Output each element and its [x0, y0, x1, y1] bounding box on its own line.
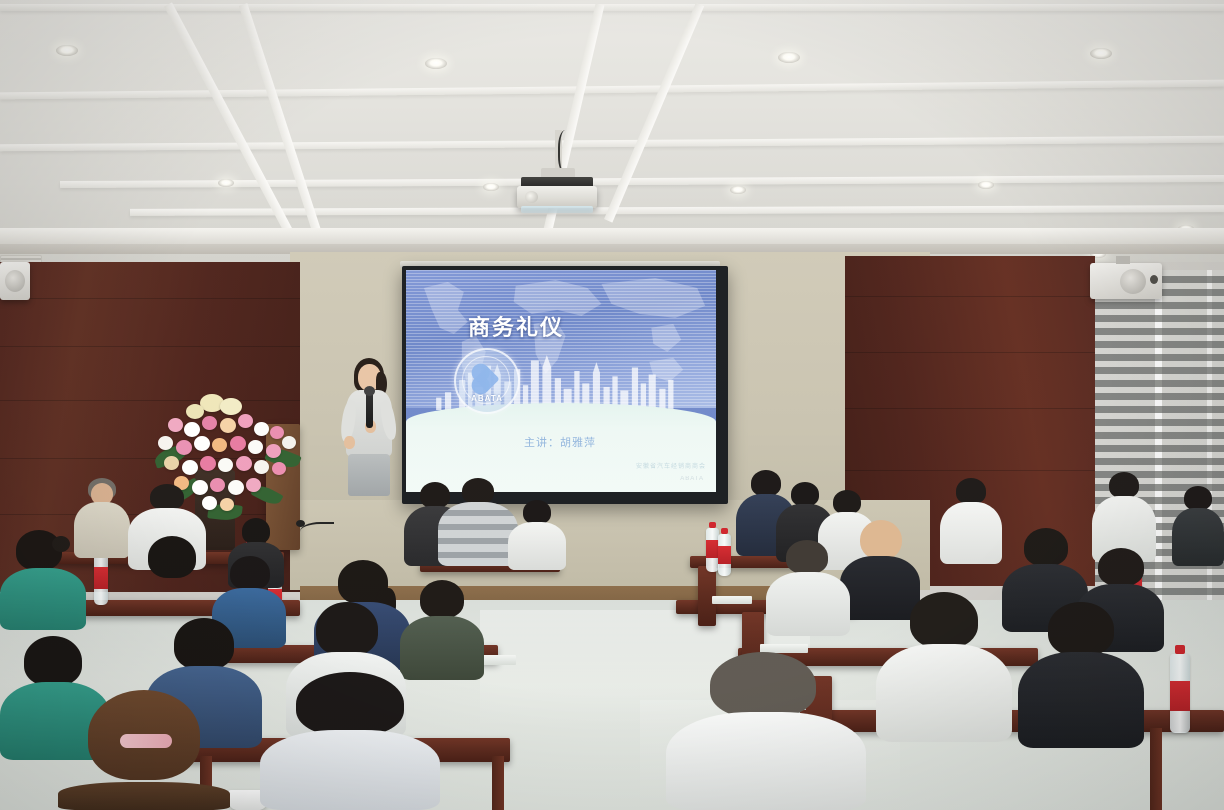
ceiling-cornice: [0, 228, 1224, 244]
audience-member: [0, 530, 86, 630]
ceiling-beam: [0, 136, 1224, 152]
audience-member: [58, 690, 230, 810]
speaker-cone: [1120, 269, 1146, 294]
logo-text: ABATA: [456, 394, 518, 403]
person-hair: [833, 490, 861, 514]
presenter-prefix: 主讲：: [524, 437, 560, 449]
audience-member: [940, 478, 1002, 564]
person-torso: [0, 568, 86, 630]
person-torso: [1172, 508, 1224, 566]
person-hair: [1109, 472, 1139, 498]
recessed-downlight: [425, 58, 447, 69]
person-hair: [174, 618, 234, 670]
speaker-bracket: [1116, 256, 1130, 264]
person-hair: [710, 652, 816, 718]
bottle-label: [94, 567, 108, 589]
conference-room-photo: 商务礼仪: [0, 0, 1224, 810]
audience-member: [400, 580, 484, 680]
presenter-skirt: [348, 454, 390, 496]
abata-logo-icon: ABATA: [454, 348, 520, 414]
person-hair: [148, 536, 196, 578]
desk-paper: [712, 596, 752, 604]
slide-footer-brand: ABATA: [680, 476, 704, 482]
presenter: [332, 358, 404, 510]
audience-member: [766, 540, 850, 636]
person-hair: [462, 478, 494, 504]
recessed-downlight: [978, 181, 994, 189]
person-hair: [316, 602, 378, 656]
microphone-head-icon: [364, 386, 375, 396]
slide-title: 商务礼仪: [468, 310, 564, 342]
audience-member: [666, 652, 866, 810]
audience-member: [876, 592, 1012, 742]
coffered-ceiling: [0, 0, 1224, 262]
person-hair: [786, 540, 828, 574]
water-bottle: [718, 528, 731, 576]
person-torso: [508, 522, 566, 570]
audience-member: [260, 672, 440, 810]
ceiling-beam: [0, 4, 1224, 11]
audience-member: [1018, 602, 1144, 748]
person-hair: [296, 672, 404, 736]
ceiling-beam-diagonal: [604, 3, 704, 223]
person-torso: [876, 644, 1012, 742]
ceiling-beam: [0, 80, 1224, 100]
projection-screen-frame: 商务礼仪: [402, 266, 728, 504]
recessed-downlight: [483, 183, 499, 191]
ceiling-beam: [60, 175, 1224, 188]
person-hair: [242, 518, 270, 544]
wall-speaker: [1090, 263, 1162, 299]
slide-presenter-credit: 主讲：胡雅萍: [524, 434, 596, 450]
bottle-label: [1170, 681, 1190, 711]
recessed-downlight: [730, 186, 746, 194]
person-hair: [24, 636, 82, 686]
person-torso: [766, 572, 850, 636]
person-hair: [1024, 528, 1068, 566]
audience-member: [508, 500, 566, 570]
audience-member: [1172, 486, 1224, 566]
desk-leg: [492, 756, 504, 810]
person-hair: [956, 478, 986, 504]
speaker-tweeter: [1150, 275, 1158, 284]
handheld-microphone: [366, 392, 373, 428]
recessed-downlight: [56, 45, 78, 56]
gooseneck-mic-capsule-icon: [296, 520, 305, 527]
person-hair: [420, 580, 464, 618]
projector-light-glow: [521, 206, 593, 213]
person-torso: [58, 782, 230, 810]
ceiling-beam: [130, 205, 1224, 216]
recessed-downlight: [778, 52, 800, 63]
audience-member: [438, 478, 518, 566]
bottle-label: [718, 546, 731, 564]
wall-speaker: [0, 262, 30, 300]
person-hair: [910, 592, 978, 648]
gooseneck-microphone: [300, 522, 334, 538]
presenter-name: 胡雅萍: [560, 437, 596, 449]
person-bald-head: [860, 520, 902, 560]
projection-screen: 商务礼仪: [406, 270, 716, 492]
person-hair: [1048, 602, 1114, 656]
person-hair-bun: [52, 536, 70, 552]
person-hair: [791, 482, 819, 506]
person-torso: [1018, 652, 1144, 748]
desk-leg: [1150, 728, 1162, 810]
person-torso: [260, 730, 440, 810]
city-skyline-graphic: [406, 348, 681, 410]
person-hair: [150, 484, 184, 510]
bottle-cap: [1175, 645, 1185, 654]
presenter-hand-left: [344, 436, 355, 449]
person-torso: [438, 502, 518, 566]
slide-footer-org: 安徽省汽车经销商商会: [636, 461, 706, 470]
person-hair: [1184, 486, 1212, 510]
recessed-downlight: [218, 179, 234, 187]
recessed-downlight: [1090, 48, 1112, 59]
person-hair: [523, 500, 551, 524]
person-torso: [400, 616, 484, 680]
person-hair: [1098, 548, 1144, 586]
person-torso: [940, 502, 1002, 564]
projector-lens: [525, 191, 538, 203]
person-torso: [666, 712, 866, 810]
water-bottle: [1170, 645, 1190, 733]
person-hair: [230, 556, 270, 590]
hair-clip: [120, 734, 172, 748]
